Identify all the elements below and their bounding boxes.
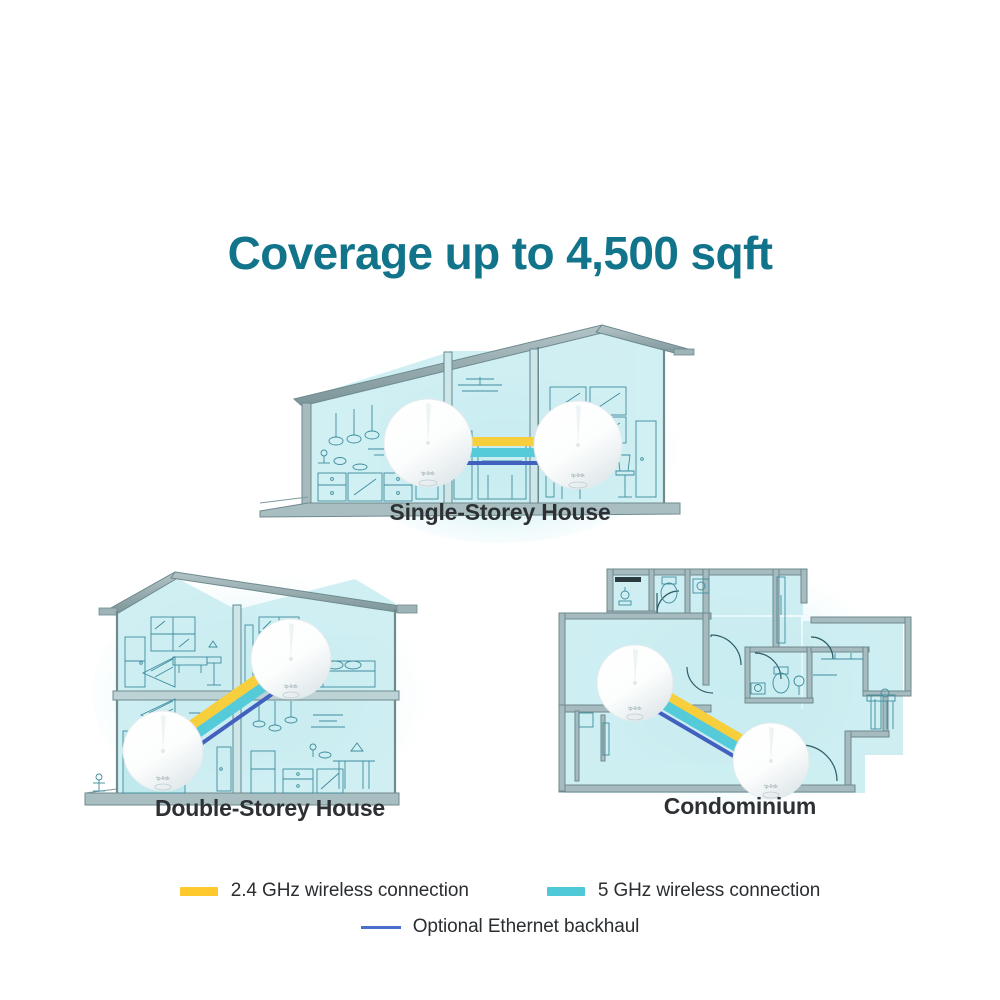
caption-single-storey-house: Single-Storey House [250, 499, 750, 526]
scene-double-storey-house: tp-link tp-link Double-Storey House [55, 545, 485, 835]
line-swatch-icon [361, 926, 401, 929]
wall-divider-upper [233, 605, 241, 693]
legend-label-ethernet: Optional Ethernet backhaul [413, 916, 640, 938]
band-swatch-icon [547, 887, 585, 896]
scene-condominium: tp-link tp-link Condominium [545, 535, 935, 835]
condominium-floorplan-illustration: tp-link tp-link [545, 535, 935, 835]
brand-logo: tp-link [628, 706, 642, 712]
brand-logo: tp-link [421, 471, 435, 477]
legend-label-5ghz: 5 GHz wireless connection [598, 880, 820, 902]
deco-unit[interactable]: tp-link [534, 401, 622, 489]
brand-logo: tp-link [764, 784, 778, 790]
wall-column-left [302, 403, 311, 507]
caption-condominium: Condominium [545, 793, 935, 820]
deco-unit[interactable]: tp-link [384, 399, 472, 487]
legend-row-ethernet: Optional Ethernet backhaul [0, 916, 1000, 938]
brand-logo: tp-link [156, 776, 170, 782]
brand-logo: tp-link [284, 684, 298, 690]
deco-unit[interactable]: tp-link [733, 723, 809, 799]
coverage-infographic: Coverage up to 4,500 sqft [0, 0, 1000, 1000]
deco-unit[interactable]: tp-link [123, 711, 203, 791]
wall-divider-2 [530, 349, 538, 507]
legend-item-5ghz: 5 GHz wireless connection [547, 880, 820, 902]
legend-label-24ghz: 2.4 GHz wireless connection [231, 880, 469, 902]
deco-unit[interactable]: tp-link [251, 619, 331, 699]
legend: 2.4 GHz wireless connection 5 GHz wirele… [0, 880, 1000, 938]
brand-logo: tp-link [571, 473, 585, 479]
legend-item-ethernet: Optional Ethernet backhaul [361, 916, 640, 938]
deco-unit[interactable]: tp-link [597, 645, 673, 721]
legend-item-24ghz: 2.4 GHz wireless connection [180, 880, 469, 902]
scene-single-storey-house: tp-link tp-link Single-Storey House [250, 305, 750, 545]
page-title: Coverage up to 4,500 sqft [0, 228, 1000, 279]
legend-row-wireless: 2.4 GHz wireless connection 5 GHz wirele… [0, 880, 1000, 902]
band-swatch-icon [180, 887, 218, 896]
caption-double-storey-house: Double-Storey House [55, 795, 485, 822]
double-storey-illustration: tp-link tp-link [55, 545, 485, 835]
